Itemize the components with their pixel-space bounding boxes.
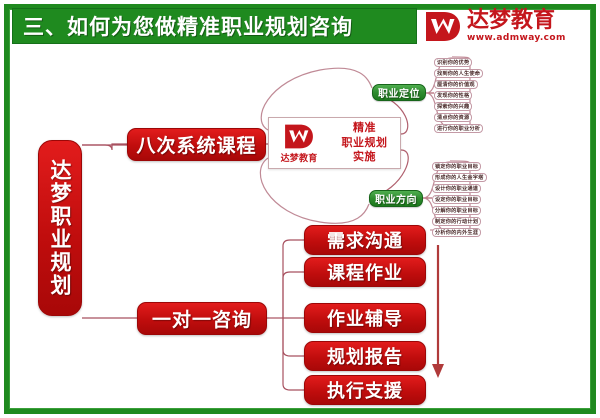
- leaf-item[interactable]: 发现你的性格: [434, 91, 472, 100]
- step-execution-support[interactable]: 执行支援: [304, 375, 426, 405]
- center-card-text: 精准 职业规划 实施: [329, 121, 400, 166]
- damneng-wave-logo-icon: [424, 10, 462, 43]
- leaf-item[interactable]: 锁定你的职业目标: [432, 162, 481, 171]
- slide-frame: [4, 4, 596, 414]
- slide: 三、如何为您做精准职业规划咨询 达梦教育 www.admway.com: [0, 0, 600, 418]
- branch-eight-courses[interactable]: 八次系统课程: [127, 128, 266, 161]
- center-card-brand-name: 达梦教育: [281, 151, 318, 164]
- leaf-item[interactable]: 设计你的职业通道: [432, 184, 481, 193]
- leaf-item[interactable]: 找到你的人生使命: [434, 69, 483, 78]
- leaf-item[interactable]: 分析你的内外生涯: [432, 228, 481, 237]
- header-banner: 三、如何为您做精准职业规划咨询: [12, 8, 417, 44]
- center-logo-card: 达梦教育 精准 职业规划 实施: [268, 117, 401, 169]
- center-card-line-2: 职业规划: [342, 136, 388, 151]
- step-planning-report[interactable]: 规划报告: [304, 341, 426, 371]
- step-course-homework[interactable]: 课程作业: [304, 257, 426, 287]
- leaf-item[interactable]: 清点你的资源: [434, 113, 472, 122]
- leaf-item[interactable]: 探索你的兴趣: [434, 102, 472, 111]
- leaf-item[interactable]: 分解你的职业目标: [432, 206, 481, 215]
- branch-one-to-one[interactable]: 一对一咨询: [137, 302, 267, 335]
- damneng-wave-logo-icon: [281, 123, 317, 150]
- brand-text: 达梦教育 www.admway.com: [467, 10, 566, 43]
- leaf-item[interactable]: 厘清你的价值观: [434, 80, 478, 89]
- leaf-item[interactable]: 形成你的人生金字塔: [432, 173, 487, 182]
- leaf-item[interactable]: 进行你的职业分析: [434, 124, 483, 133]
- brand-name: 达梦教育: [467, 10, 566, 32]
- leaf-item[interactable]: 设定你的职业目标: [432, 195, 481, 204]
- center-card-line-3: 实施: [353, 150, 376, 165]
- step-homework-tutoring[interactable]: 作业辅导: [304, 303, 426, 333]
- page-title: 三、如何为您做精准职业规划咨询: [13, 11, 353, 41]
- mindmap-root[interactable]: 达梦职业规划: [38, 140, 82, 316]
- leaf-item[interactable]: 识别你的优势: [434, 58, 472, 67]
- brand-url: www.admway.com: [467, 34, 566, 43]
- center-card-logo: 达梦教育: [269, 119, 329, 167]
- group-label-career-positioning[interactable]: 职业定位: [372, 84, 426, 101]
- step-needs-communication[interactable]: 需求沟通: [304, 225, 426, 255]
- brand-logo: 达梦教育 www.admway.com: [424, 6, 592, 46]
- group-label-career-direction[interactable]: 职业方向: [369, 190, 423, 207]
- center-card-line-1: 精准: [353, 121, 376, 136]
- leaf-item[interactable]: 制定你的行动计划: [432, 217, 481, 226]
